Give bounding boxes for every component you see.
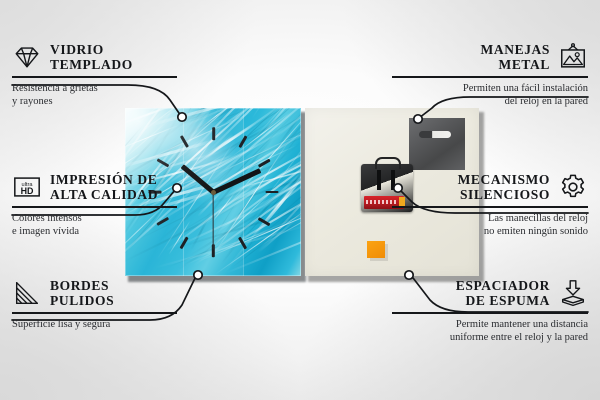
callout-rule	[392, 76, 588, 78]
foam-spacer-arrow-icon	[558, 278, 588, 308]
callout-header: BORDES PULIDOS	[12, 278, 177, 308]
callout-rule	[392, 312, 588, 314]
callout-header: MANEJAS METAL	[392, 42, 588, 72]
callout-header: ultra HD IMPRESIÓN DE ALTA CALIDAD	[12, 172, 177, 202]
movement-hanging-bail	[375, 157, 401, 169]
callout-espaciador-espuma[interactable]: ESPACIADOR DE ESPUMA Permite mantener un…	[392, 278, 588, 344]
callout-description: Permiten una fácil instalación del reloj…	[392, 83, 588, 108]
callout-title: MECANISMO SILENCIOSO	[458, 172, 550, 202]
foam-spacer	[367, 241, 385, 258]
callout-manejas-metal[interactable]: MANEJAS METAL Permiten una fácil instala…	[392, 42, 588, 108]
callout-title: ESPACIADOR DE ESPUMA	[456, 278, 550, 308]
metal-hanger-plate	[409, 118, 465, 170]
callout-title: BORDES PULIDOS	[50, 278, 114, 308]
callout-description: Resistencia a grietas y rayones	[12, 83, 177, 108]
callout-title: IMPRESIÓN DE ALTA CALIDAD	[50, 172, 158, 202]
callout-title: MANEJAS METAL	[481, 42, 550, 72]
callout-bordes-pulidos[interactable]: BORDES PULIDOS Superficie lisa y segura	[12, 278, 177, 332]
callout-rule	[12, 76, 177, 78]
callout-rule	[12, 312, 177, 314]
callout-title: VIDRIO TEMPLADO	[50, 42, 133, 72]
callout-header: VIDRIO TEMPLADO	[12, 42, 177, 72]
callout-description: Las manecillas del reloj no emiten ningú…	[392, 213, 588, 238]
callout-description: Colores intensos e imagen vívida	[12, 213, 177, 238]
callout-header: MECANISMO SILENCIOSO	[392, 172, 588, 202]
movement-slot-left	[377, 170, 381, 190]
ultra-hd-icon: ultra HD	[12, 172, 42, 202]
hd-label: HD	[21, 186, 34, 196]
polished-edge-icon	[12, 278, 42, 308]
callout-description: Permite mantener una distancia uniforme …	[392, 319, 588, 344]
callout-impresion-alta-calidad[interactable]: ultra HD IMPRESIÓN DE ALTA CALIDAD Color…	[12, 172, 177, 238]
gear-icon	[558, 172, 588, 202]
callout-description: Superficie lisa y segura	[12, 319, 177, 332]
diamond-icon	[12, 42, 42, 72]
infographic-canvas: VIDRIO TEMPLADO Resistencia a grietas y …	[0, 0, 600, 400]
callout-mecanismo-silencioso[interactable]: MECANISMO SILENCIOSO Las manecillas del …	[392, 172, 588, 238]
callout-vidrio-templado[interactable]: VIDRIO TEMPLADO Resistencia a grietas y …	[12, 42, 177, 108]
picture-frame-hanger-icon	[558, 42, 588, 72]
callout-rule	[392, 206, 588, 208]
callout-header: ESPACIADOR DE ESPUMA	[392, 278, 588, 308]
callout-rule	[12, 206, 177, 208]
